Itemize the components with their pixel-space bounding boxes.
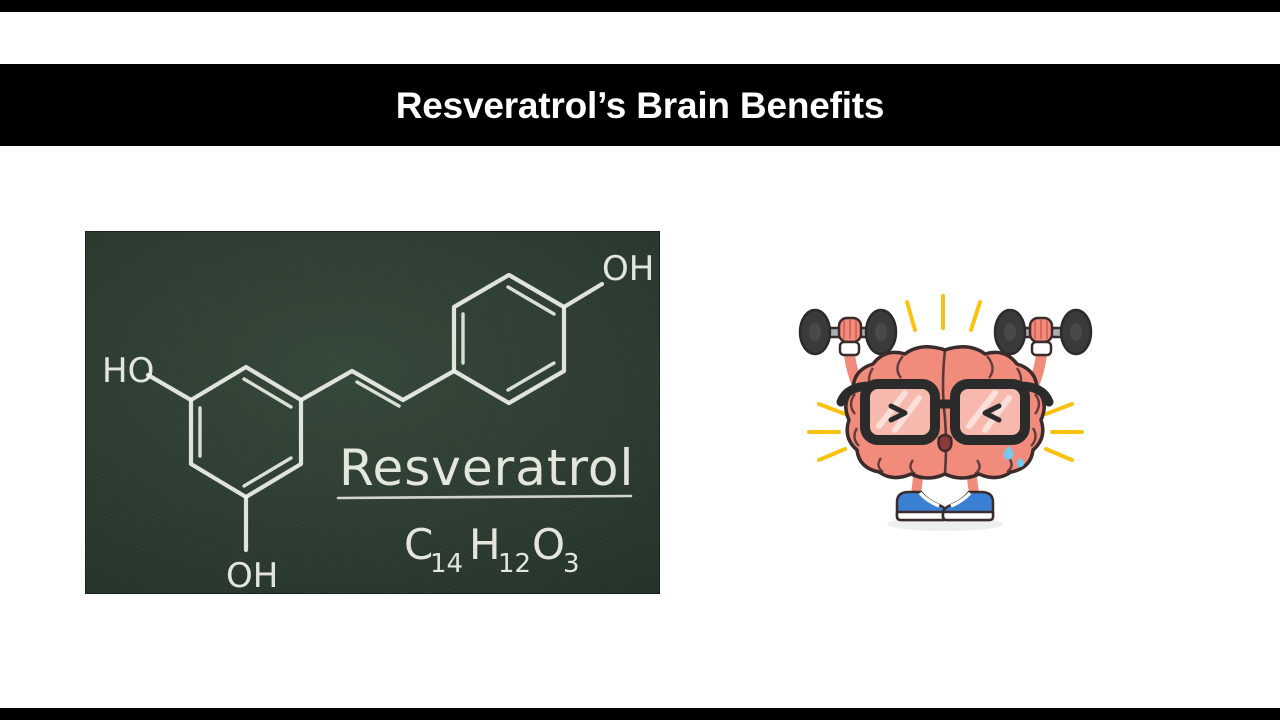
left-benzene-ring <box>191 367 301 497</box>
resveratrol-structure-chalkboard: HO OH OH Resveratrol C 14 H 12 O 3 <box>86 232 659 593</box>
left-shoe <box>897 492 947 520</box>
left-dumbbell <box>800 310 896 355</box>
formula-count-1: 14 <box>430 549 463 579</box>
formula-element-1: C <box>404 520 433 569</box>
slide-canvas: Resveratrol’s Brain Benefits <box>0 0 1280 720</box>
right-benzene-ring <box>454 275 564 403</box>
bond-to-ho-left <box>148 375 191 400</box>
page-title: Resveratrol’s Brain Benefits <box>396 87 885 124</box>
resveratrol-skeletal-formula: HO OH OH Resveratrol C 14 H 12 O 3 <box>86 232 659 593</box>
brain-lifting-dumbbells-illustration <box>793 286 1098 536</box>
bottom-black-strip <box>0 708 1280 720</box>
label-oh-bottom: OH <box>226 556 278 593</box>
formula-count-3: 3 <box>563 549 580 579</box>
left-wristband <box>840 342 859 355</box>
right-wristband <box>1032 342 1051 355</box>
top-black-strip <box>0 0 1280 12</box>
molecular-formula: C 14 H 12 O 3 <box>404 520 580 579</box>
formula-element-2: H <box>469 520 501 569</box>
compound-name: Resveratrol <box>339 439 634 497</box>
formula-element-3: O <box>532 520 565 569</box>
bond-to-oh-right <box>564 284 602 307</box>
label-oh-right: OH <box>602 249 654 289</box>
title-banner: Resveratrol’s Brain Benefits <box>0 64 1280 146</box>
formula-count-2: 12 <box>498 549 531 579</box>
mouth <box>939 435 952 451</box>
label-ho-left: HO <box>102 351 154 391</box>
stilbene-vinyl-bridge <box>301 371 454 406</box>
right-shoe <box>943 492 993 520</box>
right-dumbbell <box>995 310 1091 355</box>
